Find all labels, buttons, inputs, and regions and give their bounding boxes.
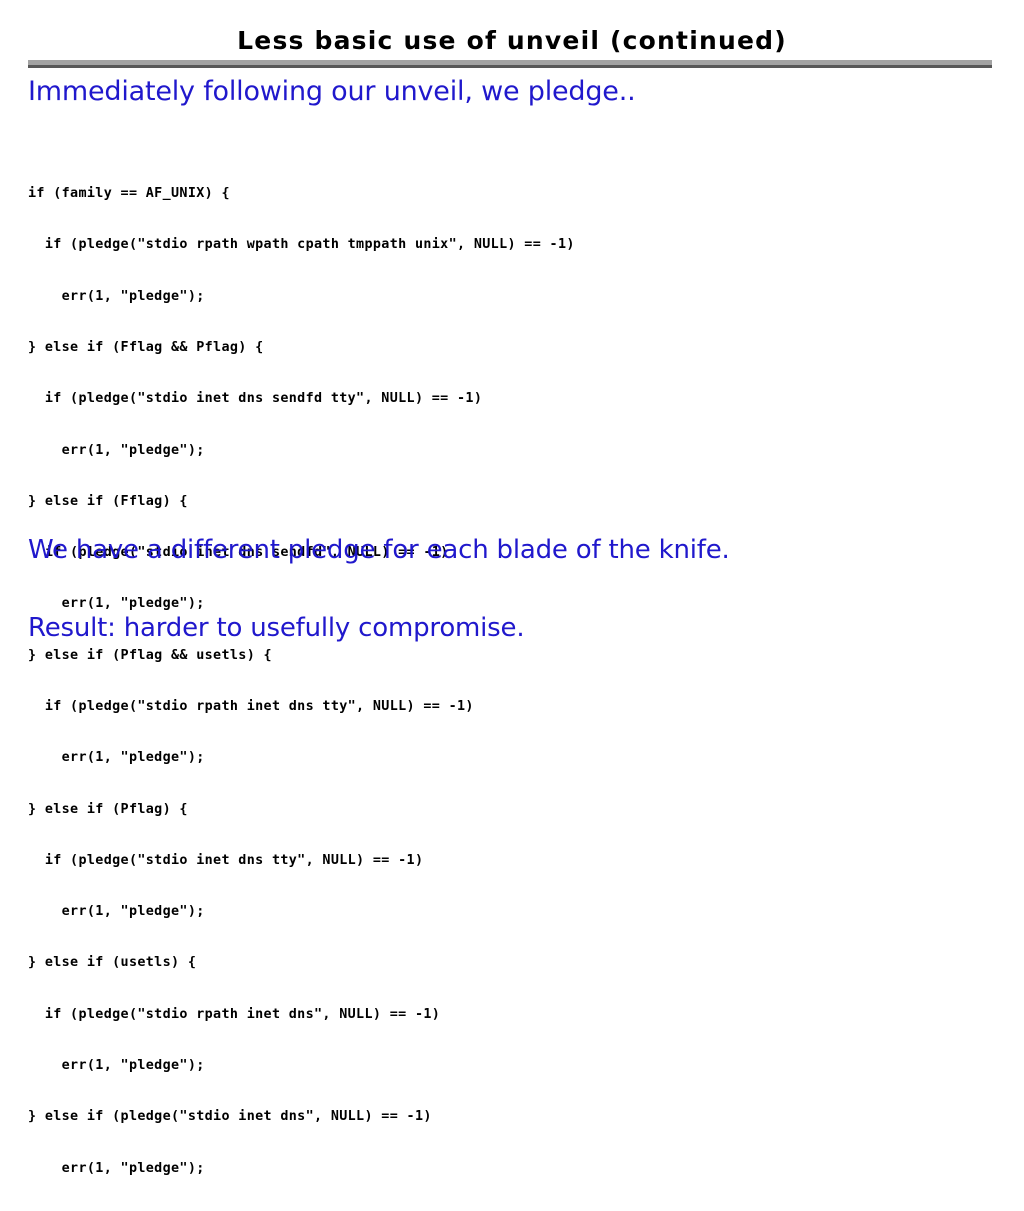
code-line: if (pledge("stdio rpath wpath cpath tmpp… bbox=[28, 236, 575, 253]
code-line: if (pledge("stdio inet dns sendfd tty", … bbox=[28, 390, 575, 407]
code-line: if (pledge("stdio rpath inet dns tty", N… bbox=[28, 698, 575, 715]
page-title: Less basic use of unveil (continued) bbox=[0, 26, 1024, 55]
code-line: if (pledge("stdio inet dns tty", NULL) =… bbox=[28, 852, 575, 869]
code-line: if (family == AF_UNIX) { bbox=[28, 185, 575, 202]
code-line: err(1, "pledge"); bbox=[28, 595, 575, 612]
closing-statement-2: Result: harder to usefully compromise. bbox=[28, 613, 524, 643]
code-line: } else if (Pflag && usetls) { bbox=[28, 647, 575, 664]
lead-text: Immediately following our unveil, we ple… bbox=[28, 76, 635, 107]
code-line: } else if (Pflag) { bbox=[28, 801, 575, 818]
code-line: err(1, "pledge"); bbox=[28, 288, 575, 305]
code-line: } else if (Fflag && Pflag) { bbox=[28, 339, 575, 356]
code-line: err(1, "pledge"); bbox=[28, 1057, 575, 1074]
code-line: err(1, "pledge"); bbox=[28, 442, 575, 459]
code-line: if (pledge("stdio rpath inet dns", NULL)… bbox=[28, 1006, 575, 1023]
code-line: } else if (Fflag) { bbox=[28, 493, 575, 510]
code-line: err(1, "pledge"); bbox=[28, 749, 575, 766]
code-line: } else if (pledge("stdio inet dns", NULL… bbox=[28, 1108, 575, 1125]
title-divider bbox=[28, 60, 992, 66]
code-block: if (family == AF_UNIX) { if (pledge("std… bbox=[28, 151, 575, 1211]
slide: Less basic use of unveil (continued) Imm… bbox=[0, 0, 1024, 768]
code-line: err(1, "pledge"); bbox=[28, 903, 575, 920]
closing-statement-1: We have a different pledge for each blad… bbox=[28, 535, 730, 565]
code-line: } else if (usetls) { bbox=[28, 954, 575, 971]
code-line: err(1, "pledge"); bbox=[28, 1160, 575, 1177]
title-divider-dark-bar bbox=[28, 65, 992, 68]
